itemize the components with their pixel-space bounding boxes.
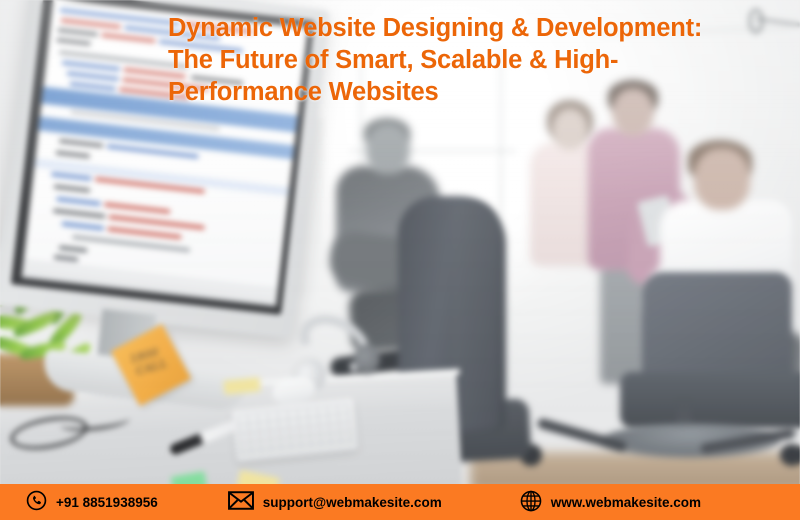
marketing-banner: 1800 CALL Dynamic Website Designing & De… [0,0,800,520]
globe-icon [520,490,542,515]
contact-phone-label: +91 8851938956 [56,495,158,510]
chair-wheel [780,444,800,466]
contact-website[interactable]: www.webmakesite.com [520,490,701,515]
contact-website-label: www.webmakesite.com [551,495,701,510]
headphone-earcup [354,344,380,374]
office-chair-center-back-edge [452,200,498,428]
contact-phone[interactable]: +91 8851938956 [26,490,158,514]
contact-email[interactable]: support@webmakesite.com [228,491,442,513]
keyboard-keys [237,403,353,454]
phone-icon [26,490,47,514]
contact-footer-bar: +91 8851938956 support@webmakesite.com [0,484,800,520]
headline-line-2: The Future of Smart, Scalable & High- [168,44,768,76]
envelope-icon [228,491,254,513]
person-head [552,108,588,150]
page-title: Dynamic Website Designing & Development:… [168,12,768,108]
headline-line-1: Dynamic Website Designing & Development: [168,12,768,44]
person-head [366,124,410,174]
headline-line-3: Performance Websites [168,76,768,108]
contact-email-label: support@webmakesite.com [263,495,442,510]
office-chair-right-seat [620,372,800,428]
person-head [694,148,750,210]
